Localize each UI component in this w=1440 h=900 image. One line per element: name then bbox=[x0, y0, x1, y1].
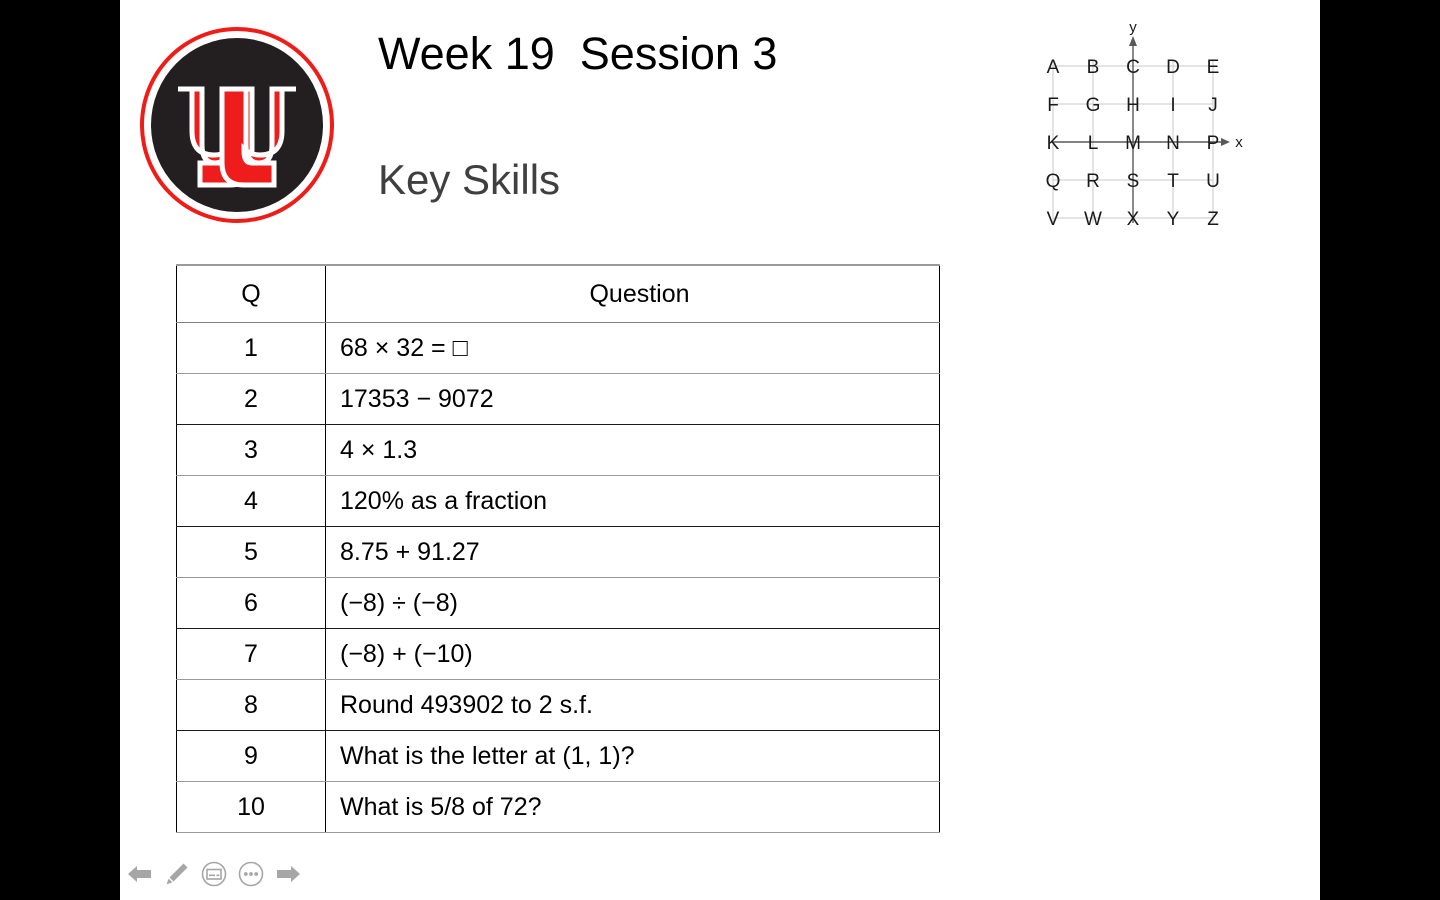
grid-letter: M bbox=[1125, 133, 1141, 154]
grid-letter: N bbox=[1166, 133, 1180, 154]
grid-letter: B bbox=[1087, 57, 1100, 78]
logo-nn-monogram bbox=[140, 27, 334, 223]
grid-letter: I bbox=[1170, 95, 1175, 116]
table-row: 8 Round 493902 to 2 s.f. bbox=[177, 680, 940, 731]
table-row: 2 17353 − 9072 bbox=[177, 374, 940, 425]
grid-letter: X bbox=[1127, 209, 1140, 230]
slide-captions-icon[interactable] bbox=[200, 860, 228, 888]
grid-letter: W bbox=[1084, 209, 1102, 230]
grid-letter: H bbox=[1126, 95, 1140, 116]
next-slide-arrow-icon[interactable] bbox=[274, 860, 302, 888]
table-row: 5 8.75 + 91.27 bbox=[177, 527, 940, 578]
grid-letter: K bbox=[1047, 133, 1060, 154]
questions-table: Q Question 1 68 × 32 = □ 2 17353 − 9072 … bbox=[176, 264, 940, 833]
grid-letter: Y bbox=[1167, 209, 1180, 230]
y-axis-label: y bbox=[1129, 19, 1137, 36]
grid-letter: F bbox=[1047, 95, 1059, 116]
grid-letter: T bbox=[1167, 171, 1179, 192]
grid-letter: G bbox=[1086, 95, 1101, 116]
question-text: 4 × 1.3 bbox=[326, 425, 940, 476]
grid-letter: V bbox=[1047, 209, 1060, 230]
presentation-stage: Week 19 Session 3 Key Skills bbox=[0, 0, 1440, 900]
table-row: 3 4 × 1.3 bbox=[177, 425, 940, 476]
table-row: 7 (−8) + (−10) bbox=[177, 629, 940, 680]
slideshow-toolbar bbox=[0, 854, 1440, 894]
nn-logo bbox=[140, 27, 334, 223]
y-axis-arrowhead bbox=[1129, 36, 1137, 46]
question-text: 17353 − 9072 bbox=[326, 374, 940, 425]
question-text: 68 × 32 = □ bbox=[326, 323, 940, 374]
question-text: 120% as a fraction bbox=[326, 476, 940, 527]
question-number: 3 bbox=[177, 425, 326, 476]
table-row: 9 What is the letter at (1, 1)? bbox=[177, 731, 940, 782]
grid-letter: Z bbox=[1207, 209, 1219, 230]
table-row: 10 What is 5/8 of 72? bbox=[177, 782, 940, 833]
x-axis-arrowhead bbox=[1221, 138, 1230, 146]
table-row: 6 (−8) ÷ (−8) bbox=[177, 578, 940, 629]
grid-letter: J bbox=[1208, 95, 1218, 116]
question-number: 9 bbox=[177, 731, 326, 782]
slide-title: Week 19 Session 3 bbox=[378, 28, 777, 80]
question-number: 8 bbox=[177, 680, 326, 731]
grid-letter: Q bbox=[1046, 171, 1061, 192]
grid-letter: S bbox=[1127, 171, 1140, 192]
more-options-icon[interactable] bbox=[237, 860, 265, 888]
question-text: 8.75 + 91.27 bbox=[326, 527, 940, 578]
previous-slide-arrow-icon[interactable] bbox=[126, 860, 154, 888]
grid-letter: C bbox=[1126, 57, 1140, 78]
question-text: (−8) + (−10) bbox=[326, 629, 940, 680]
grid-letter: U bbox=[1206, 171, 1220, 192]
letter-coordinate-grid: y x A B C D E F G H I J K bbox=[1025, 18, 1245, 233]
x-axis-label: x bbox=[1235, 134, 1243, 151]
question-number: 1 bbox=[177, 323, 326, 374]
question-number: 7 bbox=[177, 629, 326, 680]
grid-letter: A bbox=[1047, 57, 1060, 78]
grid-letter: R bbox=[1086, 171, 1100, 192]
grid-letter: E bbox=[1207, 57, 1220, 78]
slide-canvas: Week 19 Session 3 Key Skills bbox=[120, 0, 1320, 900]
question-number: 10 bbox=[177, 782, 326, 833]
question-text: Round 493902 to 2 s.f. bbox=[326, 680, 940, 731]
question-number: 5 bbox=[177, 527, 326, 578]
question-text: What is 5/8 of 72? bbox=[326, 782, 940, 833]
table-row: 4 120% as a fraction bbox=[177, 476, 940, 527]
grid-letter: P bbox=[1207, 133, 1220, 154]
pen-icon[interactable] bbox=[163, 860, 191, 888]
column-header-question: Question bbox=[326, 265, 940, 323]
question-text: (−8) ÷ (−8) bbox=[326, 578, 940, 629]
question-text: What is the letter at (1, 1)? bbox=[326, 731, 940, 782]
column-header-q: Q bbox=[177, 265, 326, 323]
grid-letter: D bbox=[1166, 57, 1180, 78]
question-number: 4 bbox=[177, 476, 326, 527]
slide-subtitle: Key Skills bbox=[378, 156, 560, 204]
grid-letter: L bbox=[1088, 133, 1099, 154]
table-row: 1 68 × 32 = □ bbox=[177, 323, 940, 374]
question-number: 2 bbox=[177, 374, 326, 425]
table-header-row: Q Question bbox=[177, 265, 940, 323]
question-number: 6 bbox=[177, 578, 326, 629]
